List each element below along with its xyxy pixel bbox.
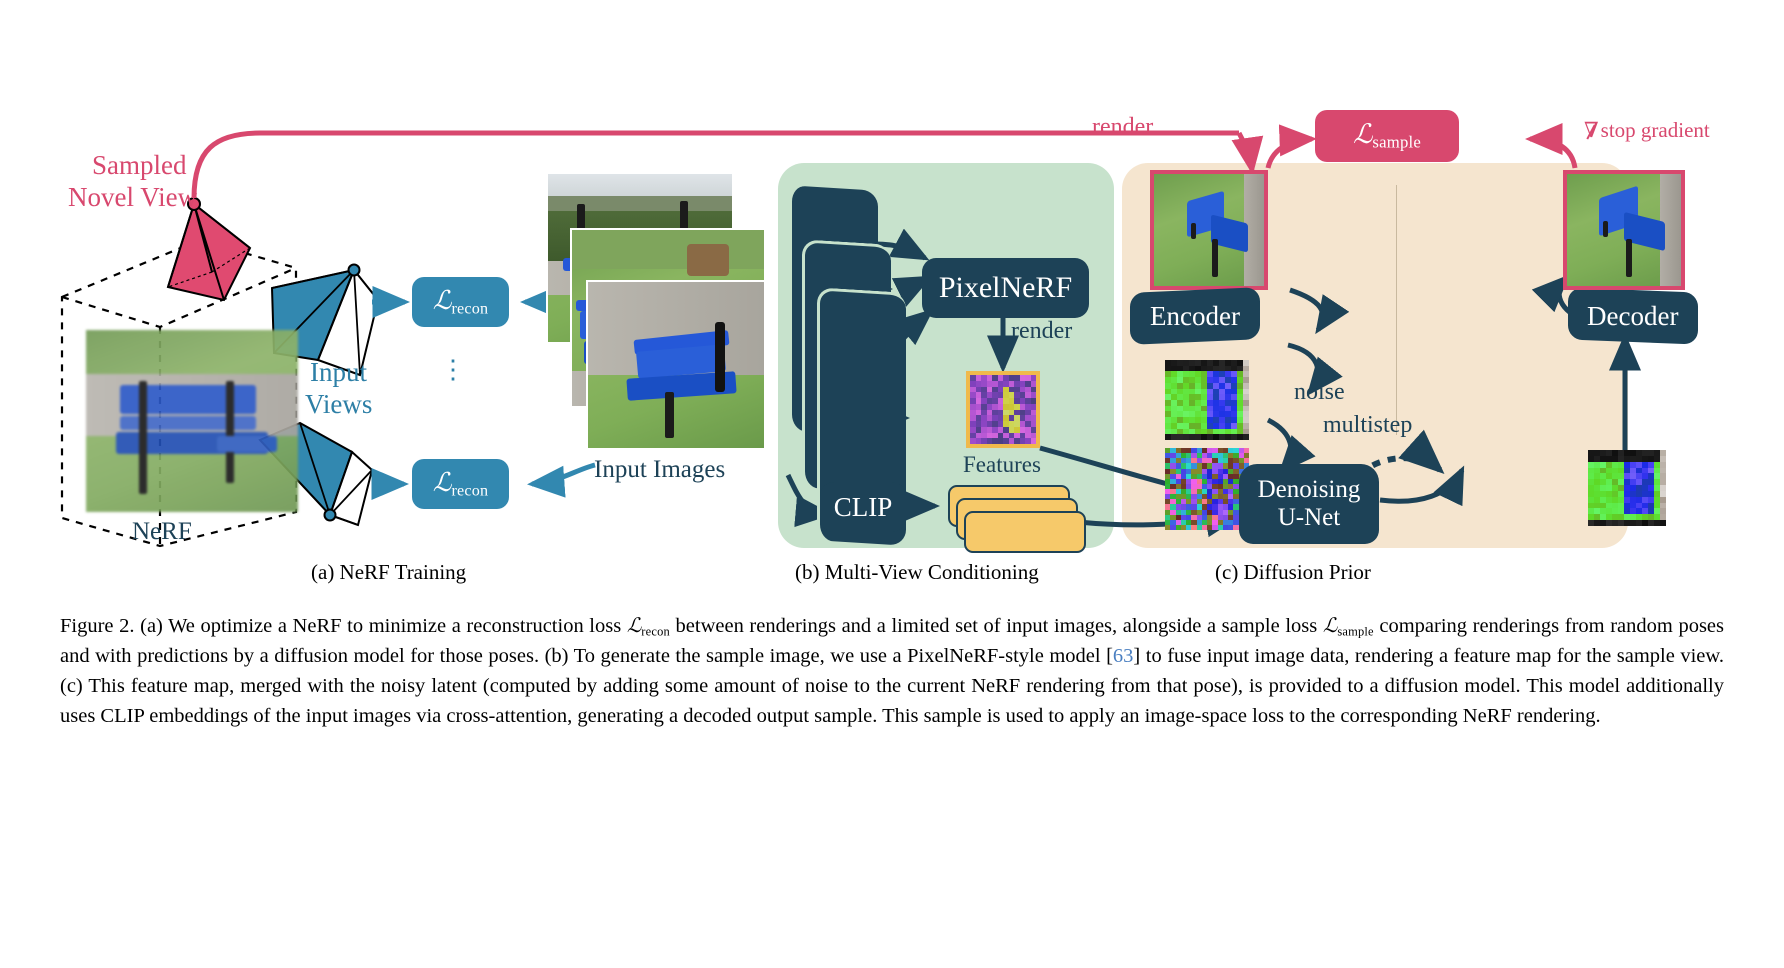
no-gradient-icon: ∇ — [1584, 120, 1599, 141]
decoded-sample-image — [1563, 170, 1685, 290]
caption-part-1: Figure 2. (a) We optimize a NeRF to mini… — [60, 615, 627, 637]
features-pixel-map — [966, 371, 1040, 448]
clip-box: CLIP — [820, 482, 906, 532]
features-label: Features — [963, 452, 1041, 478]
render-label-b: render — [1011, 318, 1072, 345]
sampled-novel-view-label-line2: Novel View — [68, 182, 197, 213]
encoder-box: Encoder — [1130, 287, 1260, 345]
noise-label: noise — [1294, 379, 1345, 406]
nerf-volume-render — [86, 330, 298, 512]
panel-caption-a: (a) NeRF Training — [311, 560, 466, 585]
denoising-unet-label-line1: Denoising — [1258, 476, 1361, 504]
loss-sample-symbol: ℒ — [1353, 119, 1372, 149]
stop-gradient-label: stop gradient — [1601, 118, 1710, 143]
denoising-unet-box: Denoising U-Net — [1239, 464, 1379, 544]
sampled-novel-view-label-line1: Sampled — [92, 150, 187, 181]
denoising-unet-label-line2: U-Net — [1278, 504, 1340, 532]
caption-part-2: between renderings and a limited set of … — [670, 615, 1323, 637]
input-views-label-line1: Input — [310, 357, 367, 388]
caption-reference-63[interactable]: 63 — [1113, 645, 1134, 667]
vertical-dots: ⋮ — [440, 355, 469, 385]
decoder-box: Decoder — [1568, 288, 1698, 345]
decoder-label: Decoder — [1587, 302, 1678, 330]
loss-recon-bottom-symbol: ℒ — [433, 468, 452, 497]
loss-recon-top-symbol: ℒ — [433, 286, 452, 315]
encoder-label: Encoder — [1150, 302, 1240, 330]
arrow-decoded-sample-to-lsample — [1530, 139, 1575, 168]
render-label-c: render — [1092, 114, 1153, 141]
latent-clean-pixel-map — [1165, 360, 1249, 440]
nerf-label: NeRF — [132, 518, 192, 546]
loss-recon-top-subscript: recon — [451, 300, 488, 317]
arrow-render-into-sample-image — [1239, 133, 1252, 170]
arrow-image-to-lrecon-bottom — [532, 465, 595, 484]
input-images-label: Input Images — [594, 456, 725, 484]
latent-noisy-pixel-map — [1165, 448, 1249, 530]
loss-recon-top: ℒrecon — [412, 277, 509, 327]
latent-decoded-pixel-map — [1588, 450, 1666, 526]
loss-recon-bottom: ℒrecon — [412, 459, 509, 509]
figure-caption: Figure 2. (a) We optimize a NeRF to mini… — [60, 612, 1724, 732]
clip-embedding-card-3 — [964, 511, 1086, 553]
loss-recon-bottom-subscript: recon — [451, 482, 488, 499]
multistep-label: multistep — [1323, 412, 1412, 439]
input-image-3 — [586, 280, 766, 450]
pixelnerf-label: PixelNeRF — [939, 272, 1072, 304]
arrow-render-to-encoder — [1290, 290, 1323, 330]
loss-sample-box: ℒsample — [1315, 110, 1459, 162]
stop-gradient-annotation: ∇ stop gradient — [1584, 118, 1710, 143]
panel-caption-b: (b) Multi-View Conditioning — [795, 560, 1039, 585]
figure-2: Sampled Novel View Input Views NeRF ⋮ ℒr… — [0, 0, 1784, 968]
arrow-render-to-lsample — [1268, 139, 1312, 168]
pixelnerf-box: PixelNeRF — [922, 258, 1089, 318]
input-views-label-line2: Views — [305, 389, 372, 420]
arrow-latent-to-noisy — [1268, 420, 1291, 470]
sampled-novel-view-frustum — [168, 198, 250, 300]
nerf-render-sample-image — [1150, 170, 1268, 290]
panel-caption-c: (c) Diffusion Prior — [1215, 560, 1371, 585]
loss-sample-subscript: sample — [1372, 133, 1421, 152]
clip-label: CLIP — [834, 493, 893, 521]
arrow-unet-to-output — [1380, 470, 1462, 501]
